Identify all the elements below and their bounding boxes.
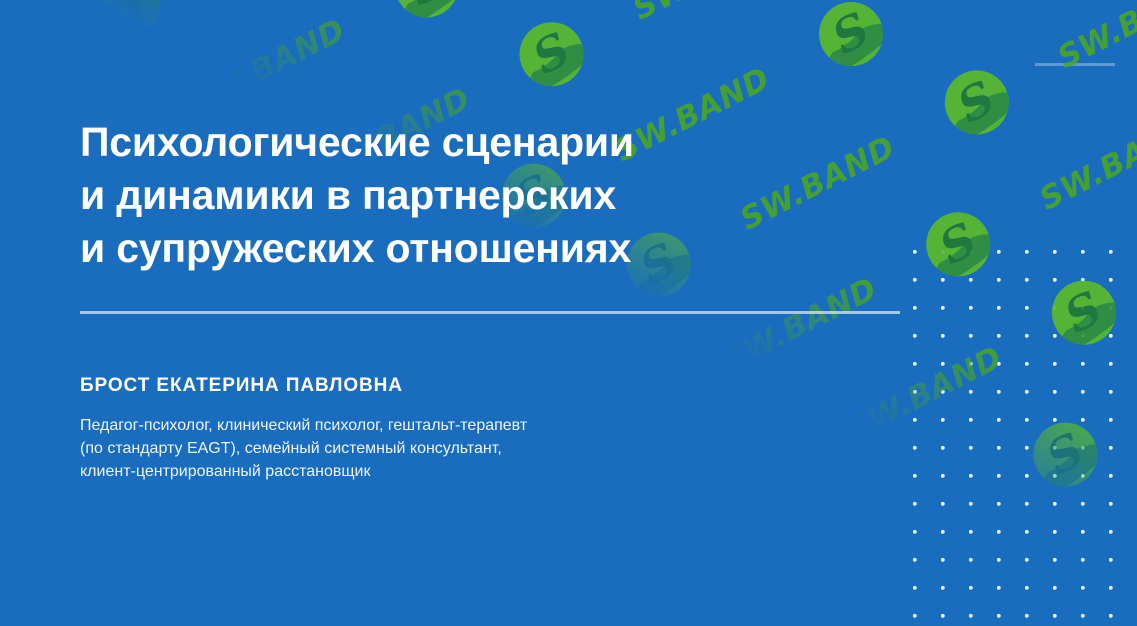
- logo-letter: S: [937, 67, 1015, 137]
- logo-letter: S: [1044, 277, 1122, 347]
- watermark-text: SW.BAND: [0, 174, 33, 283]
- logo-swoosh-highlight: [0, 579, 34, 610]
- watermark-text: SW.BAND: [1034, 109, 1137, 218]
- title-slide: SW.BAND S SW.BAND S SW.BAND S: [0, 0, 1137, 626]
- logo-letter: S: [1026, 419, 1104, 489]
- logo-letter: S: [919, 208, 997, 278]
- logo-swoosh-highlight: [950, 94, 987, 125]
- logo-swoosh-highlight: [932, 236, 969, 267]
- watermark-text: SW.BAND: [0, 32, 51, 141]
- slide-content: Психологические сценарии и динамики в па…: [80, 0, 910, 626]
- logo-swoosh: [1052, 293, 1127, 356]
- logo-swoosh: [945, 83, 1020, 146]
- dot-grid-decoration: [901, 238, 1137, 626]
- top-right-rule: [1035, 63, 1115, 66]
- watermark-logo-icon: S: [1130, 622, 1137, 626]
- logo-swoosh: [1034, 435, 1109, 498]
- watermark-text: SW.BAND: [927, 0, 1093, 7]
- watermark-logo-icon: S: [0, 545, 67, 626]
- author-bio: Педагог-психолог, клинический психолог, …: [80, 414, 527, 483]
- logo-swoosh: [0, 568, 67, 626]
- title-divider: [80, 311, 900, 314]
- page-title: Психологические сценарии и динамики в па…: [80, 116, 634, 275]
- logo-swoosh-highlight: [1057, 304, 1094, 335]
- watermark-text: SW.BAND: [949, 550, 1115, 626]
- watermark-logo-icon: S: [915, 201, 1001, 287]
- watermark-logo-icon: S: [1022, 411, 1108, 497]
- logo-swoosh: [927, 224, 1002, 287]
- logo-letter: S: [0, 552, 62, 622]
- watermark-logo-icon: S: [933, 60, 1019, 146]
- watermark-logo-icon: S: [1041, 270, 1127, 356]
- logo-swoosh-highlight: [1039, 446, 1076, 477]
- author-name: БРОСТ ЕКАТЕРИНА ПАВЛОВНА: [80, 375, 403, 397]
